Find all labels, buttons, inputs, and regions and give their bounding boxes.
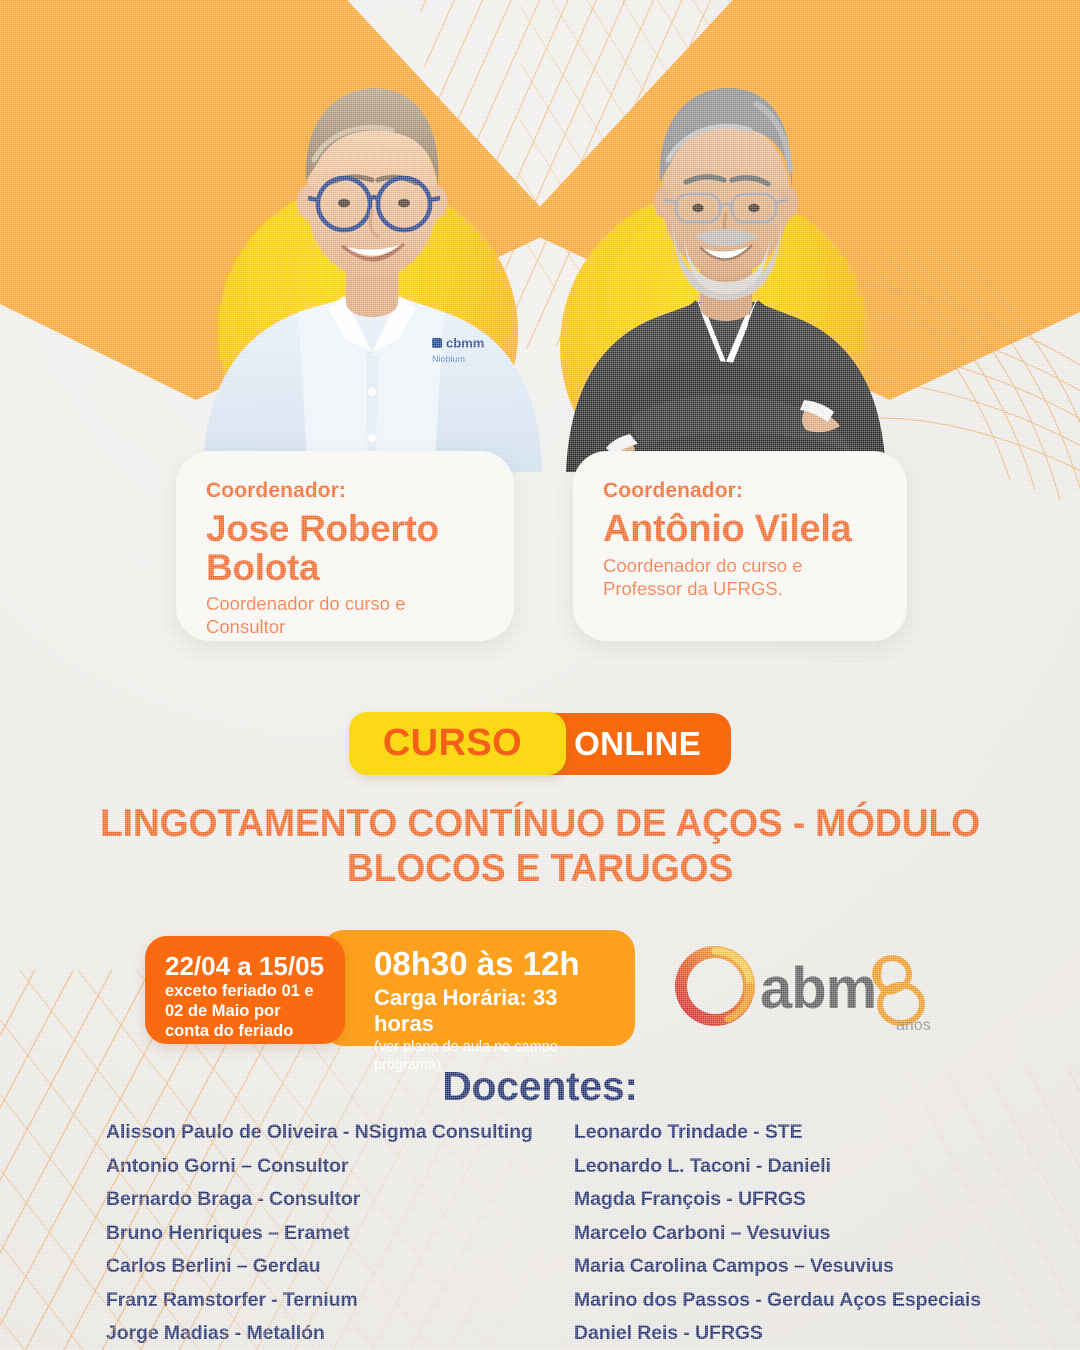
abm-80-mark (875, 958, 922, 1023)
course-title: LINGOTAMENTO CONTÍNUO DE AÇOS - MÓDULO B… (74, 802, 1005, 891)
course-date-note: exceto feriado 01 e 02 de Maio por conta… (165, 981, 329, 1041)
abm-ring-icon (675, 946, 755, 1026)
coordinator-name: Jose Roberto Bolota (206, 509, 484, 587)
badge-curso-label: CURSO (349, 712, 566, 775)
portrait-antonio-vilela (560, 48, 890, 510)
coordinator-kicker: Coordenador: (603, 479, 877, 503)
svg-text:Niobium: Niobium (432, 354, 465, 364)
course-time-box: 08h30 às 12h Carga Horária: 33 horas (ve… (322, 930, 635, 1046)
course-flyer: cbmm Niobium (0, 0, 1080, 1350)
course-workload: Carga Horária: 33 horas (374, 985, 617, 1038)
coordinator-kicker: Coordenador: (206, 479, 484, 503)
course-format-badge: CURSO ONLINE (0, 712, 1080, 775)
coordinator-card-antonio-vilela: Coordenador: Antônio Vilela Coordenador … (573, 451, 907, 641)
course-hours: 08h30 às 12h (374, 946, 617, 982)
coordinator-card-jose-roberto-bolota: Coordenador: Jose Roberto Bolota Coorden… (176, 451, 514, 641)
abm-wordmark: abm (760, 956, 876, 1021)
decorative-lines-bottom-right (820, 1070, 1080, 1350)
coordinator-name: Antônio Vilela (603, 509, 877, 549)
abm-anos-label: anos (896, 1017, 931, 1034)
portrait-jose-roberto-bolota: cbmm Niobium (196, 40, 544, 510)
course-date-box: 22/04 a 15/05 exceto feriado 01 e 02 de … (145, 936, 345, 1044)
coordinator-role: Coordenador do curso e Professor da UFRG… (603, 555, 877, 600)
coordinator-role: Coordenador do curso e Consultor (206, 593, 484, 638)
abm-80-anos-logo: abm anos (668, 938, 948, 1038)
svg-text:cbmm: cbmm (446, 336, 484, 351)
course-workload-note: (ver plano de aula no campo programa) (374, 1039, 617, 1074)
course-date-range: 22/04 a 15/05 (165, 952, 329, 980)
